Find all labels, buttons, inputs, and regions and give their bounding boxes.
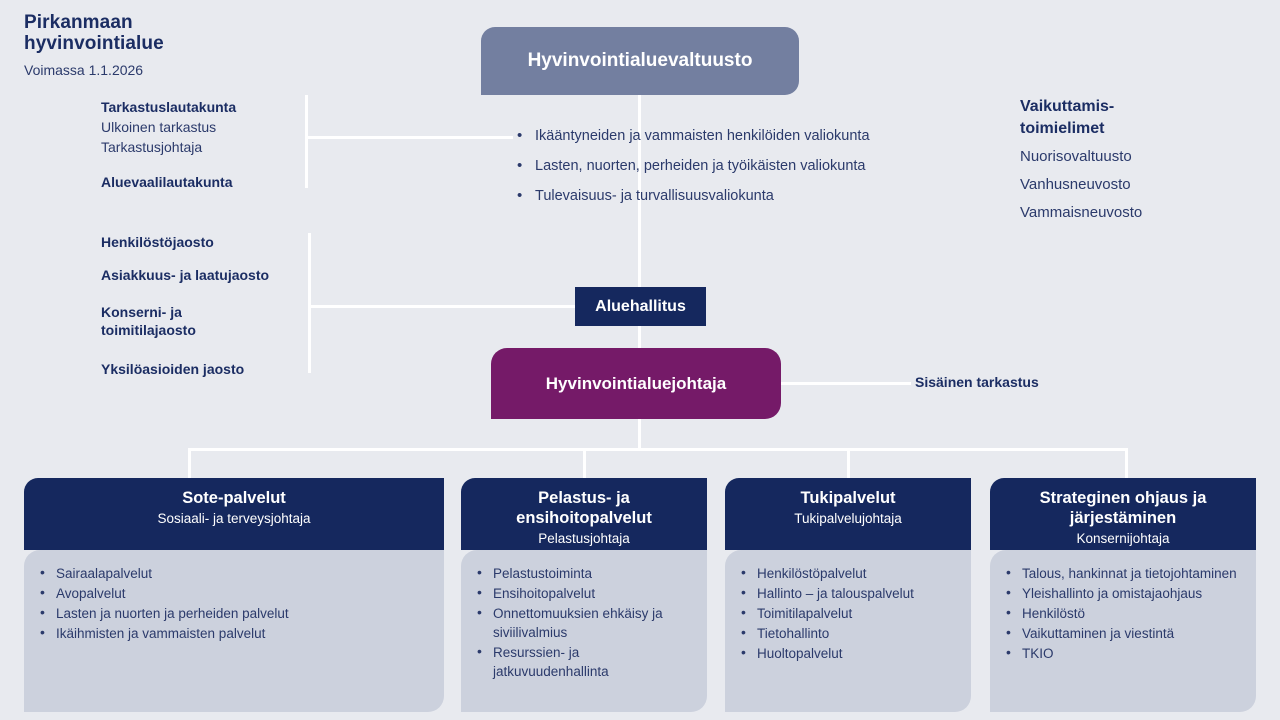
org-chart-canvas: Pirkanmaan hyvinvointialue Voimassa 1.1.… [0,0,1280,720]
influence-bodies-title: Vaikuttamis- toimielimet [1020,96,1220,140]
connector-drop-card-3 [847,448,850,480]
service-card-header: Tukipalvelut Tukipalvelujohtaja [725,478,971,550]
service-card-body: Talous, hankinnat ja tietojohtaminen Yle… [990,550,1256,712]
audit-committee-line2: Tarkastusjohtaja [101,137,301,157]
committee-list: Ikääntyneiden ja vammaisten henkilöiden … [515,126,870,216]
regional-board-label: Aluehallitus [595,298,686,316]
connector-drop-card-4 [1125,448,1128,480]
section-item-label: Henkilöstöjaosto [101,234,214,250]
service-card-title: Strateginen ohjaus ja järjestäminen [998,488,1248,528]
service-card-list-item: Pelastustoiminta [475,564,697,583]
service-card-header: Pelastus- ja ensihoitopalvelut Pelastusj… [461,478,707,550]
service-card-list-item: Henkilöstö [1004,604,1246,623]
section-item-label: Asiakkuus- ja laatujaosto [101,267,269,283]
service-card-pelastus[interactable]: Pelastus- ja ensihoitopalvelut Pelastusj… [461,478,707,712]
council-box[interactable]: Hyvinvointialuevaltuusto [481,27,799,95]
influence-bodies-title-line1: Vaikuttamis- [1020,96,1220,118]
connector-jaosto-horizontal [308,305,578,308]
service-card-tukipalvelut[interactable]: Tukipalvelut Tukipalvelujohtaja Henkilös… [725,478,971,712]
connector-audit-horizontal [308,136,513,139]
connector-drop-card-2 [583,448,586,480]
regional-board-box[interactable]: Aluehallitus [575,287,706,326]
service-card-list-item: Avopalvelut [38,584,434,603]
service-card-subtitle: Tukipalvelujohtaja [733,510,963,528]
service-card-title: Pelastus- ja ensihoitopalvelut [469,488,699,528]
committee-list-item: Lasten, nuorten, perheiden ja työikäiste… [515,156,870,177]
service-card-list-item: Onnettomuuksien ehkäisy ja siviilivalmiu… [475,604,697,642]
service-card-list: Talous, hankinnat ja tietojohtaminen Yle… [1004,564,1246,663]
service-card-title: Tukipalvelut [733,488,963,508]
election-committee-heading: Aluevaalilautakunta [101,172,311,192]
election-committee-block: Aluevaalilautakunta [101,172,311,192]
service-card-list-item: Resurssien- ja jatkuvuudenhallinta [475,643,697,681]
influence-body-item-nuorisovaltuusto: Nuorisovaltuusto [1020,148,1132,165]
service-card-header: Strateginen ohjaus ja järjestäminen Kons… [990,478,1256,550]
service-card-body: Henkilöstöpalvelut Hallinto – ja talousp… [725,550,971,712]
service-card-list-item: Vaikuttaminen ja viestintä [1004,624,1246,643]
internal-audit-label: Sisäinen tarkastus [915,374,1039,390]
section-item-yksiloasioiden-jaosto: Yksilöasioiden jaosto [101,360,316,378]
service-card-list: Sairaalapalvelut Avopalvelut Lasten ja n… [38,564,434,643]
service-card-list: Henkilöstöpalvelut Hallinto – ja talousp… [739,564,961,663]
service-card-list-item: Hallinto – ja talouspalvelut [739,584,961,603]
service-card-list-item: Ikäihmisten ja vammaisten palvelut [38,624,434,643]
brand-title-line2: hyvinvointialue [24,33,164,54]
committee-list-item: Ikääntyneiden ja vammaisten henkilöiden … [515,126,870,147]
influence-body-item-vanhusneuvosto: Vanhusneuvosto [1020,176,1131,193]
connector-drop-card-1 [188,448,191,480]
director-label: Hyvinvointialuejohtaja [546,374,726,394]
brand-title-line1: Pirkanmaan [24,12,164,33]
audit-committee-block: Tarkastuslautakunta Ulkoinen tarkastus T… [101,97,301,157]
connector-distribution-bar [188,448,1128,451]
service-card-list-item: Tietohallinto [739,624,961,643]
section-item-label-line2: toimitilajaosto [101,321,316,339]
section-item-henkilostojaosto: Henkilöstöjaosto [101,233,316,251]
service-card-list: Pelastustoiminta Ensihoitopalvelut Onnet… [475,564,697,681]
influence-body-item-vammaisneuvosto: Vammaisneuvosto [1020,204,1142,221]
service-card-body: Sairaalapalvelut Avopalvelut Lasten ja n… [24,550,444,712]
section-item-konserni-ja-toimitilajaosto: Konserni- ja toimitilajaosto [101,303,316,339]
service-card-body: Pelastustoiminta Ensihoitopalvelut Onnet… [461,550,707,712]
connector-board-to-director [638,326,641,350]
service-card-subtitle: Sosiaali- ja terveysjohtaja [32,510,436,528]
connector-director-down [638,419,641,450]
service-card-list-item: Huoltopalvelut [739,644,961,663]
committee-list-item: Tulevaisuus- ja turvallisuusvaliokunta [515,186,870,207]
service-card-list-item: Talous, hankinnat ja tietojohtaminen [1004,564,1246,583]
validity-label: Voimassa 1.1.2026 [24,62,143,78]
section-item-label: Yksilöasioiden jaosto [101,361,244,377]
service-card-list-item: Ensihoitopalvelut [475,584,697,603]
council-box-label: Hyvinvointialuevaltuusto [528,50,753,72]
influence-bodies-title-line2: toimielimet [1020,118,1220,140]
service-card-subtitle: Pelastusjohtaja [469,530,699,548]
service-card-list-item: Yleishallinto ja omistajaohjaus [1004,584,1246,603]
service-card-list-item: TKIO [1004,644,1246,663]
service-card-list-item: Sairaalapalvelut [38,564,434,583]
service-card-list-item: Lasten ja nuorten ja perheiden palvelut [38,604,434,623]
brand-title: Pirkanmaan hyvinvointialue [24,12,164,54]
service-card-title: Sote-palvelut [32,488,436,508]
service-card-sote[interactable]: Sote-palvelut Sosiaali- ja terveysjohtaj… [24,478,444,712]
section-item-label-line1: Konserni- ja [101,303,316,321]
service-card-list-item: Henkilöstöpalvelut [739,564,961,583]
service-card-header: Sote-palvelut Sosiaali- ja terveysjohtaj… [24,478,444,550]
service-card-list-item: Toimitilapalvelut [739,604,961,623]
audit-committee-line1: Ulkoinen tarkastus [101,117,301,137]
section-item-asiakkuus-ja-laatujaosto: Asiakkuus- ja laatujaosto [101,266,331,284]
service-card-strateginen[interactable]: Strateginen ohjaus ja järjestäminen Kons… [990,478,1256,712]
connector-director-to-internal-audit [781,382,911,385]
service-card-subtitle: Konsernijohtaja [998,530,1248,548]
audit-committee-heading: Tarkastuslautakunta [101,97,301,117]
director-box[interactable]: Hyvinvointialuejohtaja [491,348,781,419]
